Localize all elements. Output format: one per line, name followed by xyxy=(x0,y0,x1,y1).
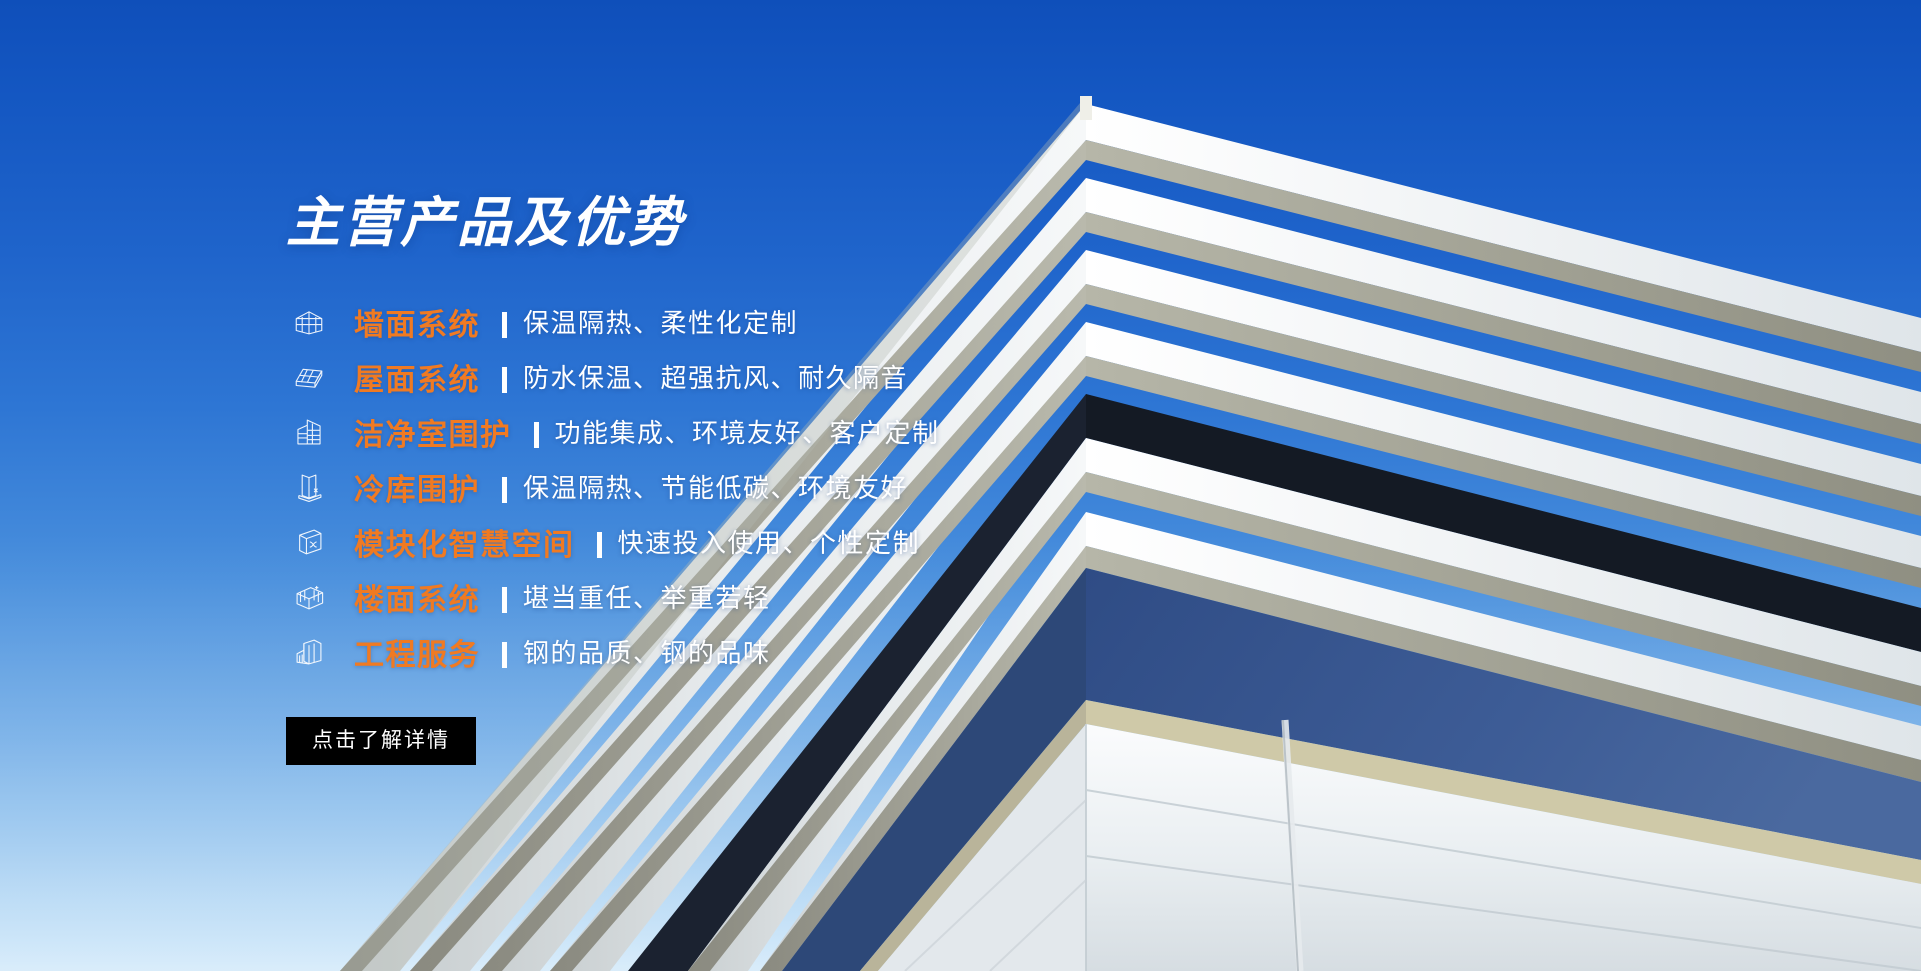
feature-name: 楼面系统 xyxy=(354,575,480,619)
feature-row-floor-system[interactable]: 楼面系统 堪当重任、举重若轻 xyxy=(286,569,1126,624)
hero-content: 主营产品及优势 墙面系统 保温隔热、柔性化定制 xyxy=(286,196,1126,765)
feature-desc: 快速投入使用、个性定制 xyxy=(618,523,921,560)
page-title: 主营产品及优势 xyxy=(286,196,1126,250)
cold-storage-icon xyxy=(286,467,332,507)
feature-name: 模块化智慧空间 xyxy=(354,520,575,564)
feature-separator xyxy=(502,312,507,338)
feature-row-modular-space[interactable]: 模块化智慧空间 快速投入使用、个性定制 xyxy=(286,514,1126,569)
feature-name: 屋面系统 xyxy=(354,355,480,399)
feature-separator xyxy=(502,367,507,393)
engineering-service-icon xyxy=(286,632,332,672)
feature-separator xyxy=(502,587,507,613)
feature-row-wall-system[interactable]: 墙面系统 保温隔热、柔性化定制 xyxy=(286,294,1126,349)
feature-desc: 堪当重任、举重若轻 xyxy=(523,578,771,615)
modular-space-icon xyxy=(286,522,332,562)
wall-system-icon xyxy=(286,302,332,342)
floor-system-icon xyxy=(286,577,332,617)
cleanroom-icon xyxy=(286,412,332,452)
feature-name: 冷库围护 xyxy=(354,465,480,509)
feature-separator xyxy=(502,477,507,503)
feature-row-engineering-service[interactable]: 工程服务 钢的品质、钢的品味 xyxy=(286,624,1126,679)
feature-list: 墙面系统 保温隔热、柔性化定制 屋面系统 防水保温 xyxy=(286,294,1126,679)
feature-name: 墙面系统 xyxy=(354,300,480,344)
feature-row-cleanroom[interactable]: 洁净室围护 功能集成、环境友好、客户定制 xyxy=(286,404,1126,459)
feature-desc: 保温隔热、柔性化定制 xyxy=(523,303,798,340)
feature-desc: 钢的品质、钢的品味 xyxy=(523,633,771,670)
feature-separator xyxy=(502,642,507,668)
learn-more-button[interactable]: 点击了解详情 xyxy=(286,717,476,765)
hero-banner: 主营产品及优势 墙面系统 保温隔热、柔性化定制 xyxy=(0,0,1921,971)
feature-separator xyxy=(597,532,602,558)
feature-row-roof-system[interactable]: 屋面系统 防水保温、超强抗风、耐久隔音 xyxy=(286,349,1126,404)
feature-desc: 防水保温、超强抗风、耐久隔音 xyxy=(523,358,908,395)
feature-name: 洁净室围护 xyxy=(354,410,512,454)
feature-row-cold-storage[interactable]: 冷库围护 保温隔热、节能低碳、环境友好 xyxy=(286,459,1126,514)
roof-system-icon xyxy=(286,357,332,397)
feature-desc: 功能集成、环境友好、客户定制 xyxy=(555,413,940,450)
feature-desc: 保温隔热、节能低碳、环境友好 xyxy=(523,468,908,505)
feature-separator xyxy=(534,422,539,448)
feature-name: 工程服务 xyxy=(354,630,480,674)
